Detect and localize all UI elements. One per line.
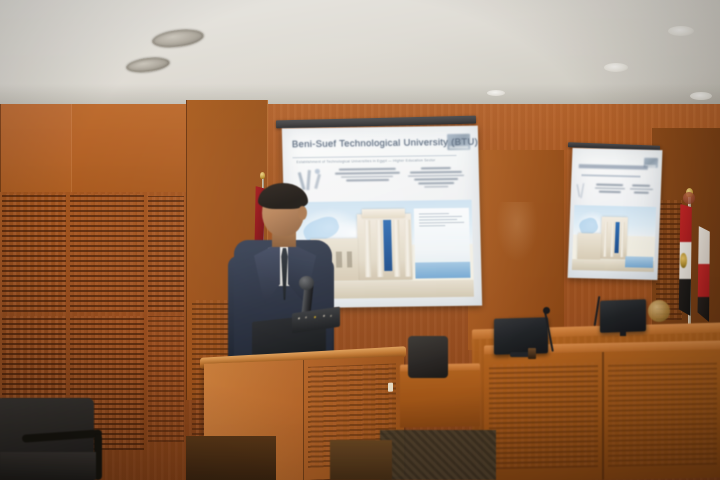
ceiling-downlight-icon [487,90,505,96]
flag-finial-icon [260,172,265,179]
speaker-ear [298,206,307,220]
slide-subtitle: Establishment of Technological Universit… [296,158,453,164]
speaker-hair [258,183,308,209]
side-projection-screen [568,148,663,280]
wall-crest-emblem-icon [496,202,538,262]
wall-panel-upper-left-a [0,104,72,192]
ceiling-downlight-icon [690,92,712,100]
carpet-floor [380,430,496,480]
slide-photo-document-panel [414,207,470,278]
slide-title: Beni-Suef Technological University (BTU) [292,137,453,150]
acoustic-panel [148,196,184,312]
desk-item [528,348,536,359]
slide-text-block-right [406,167,465,190]
ceiling-downlight-icon [604,63,628,72]
floor-shadow [186,436,276,480]
acoustic-panel [70,194,144,312]
slide-text-block-left [334,168,401,184]
panel-monitor-front [494,317,548,355]
presentation-photo: Beni-Suef Technological University (BTU)… [0,0,720,480]
wall-ornament-icon [683,192,695,204]
ceiling-downlight-icon [668,26,694,36]
eagle-emblem-icon [680,253,687,268]
acoustic-panel [2,194,66,312]
chair-seat [0,452,96,480]
microphone-capsule-icon [543,307,550,314]
panel-desk-front [484,350,720,480]
conference-chair-rear [408,336,448,378]
podium-latch-icon [388,383,393,392]
microphone-head-icon [299,276,314,290]
side-slide-title-line [579,164,648,170]
floor-strip [330,440,392,480]
panel-monitor-rear [600,299,646,333]
monitor-stand [620,330,626,336]
side-desk-front [400,370,480,427]
slide-side [568,148,663,280]
desk-ornament-icon [648,300,670,322]
acoustic-panel [148,316,184,442]
